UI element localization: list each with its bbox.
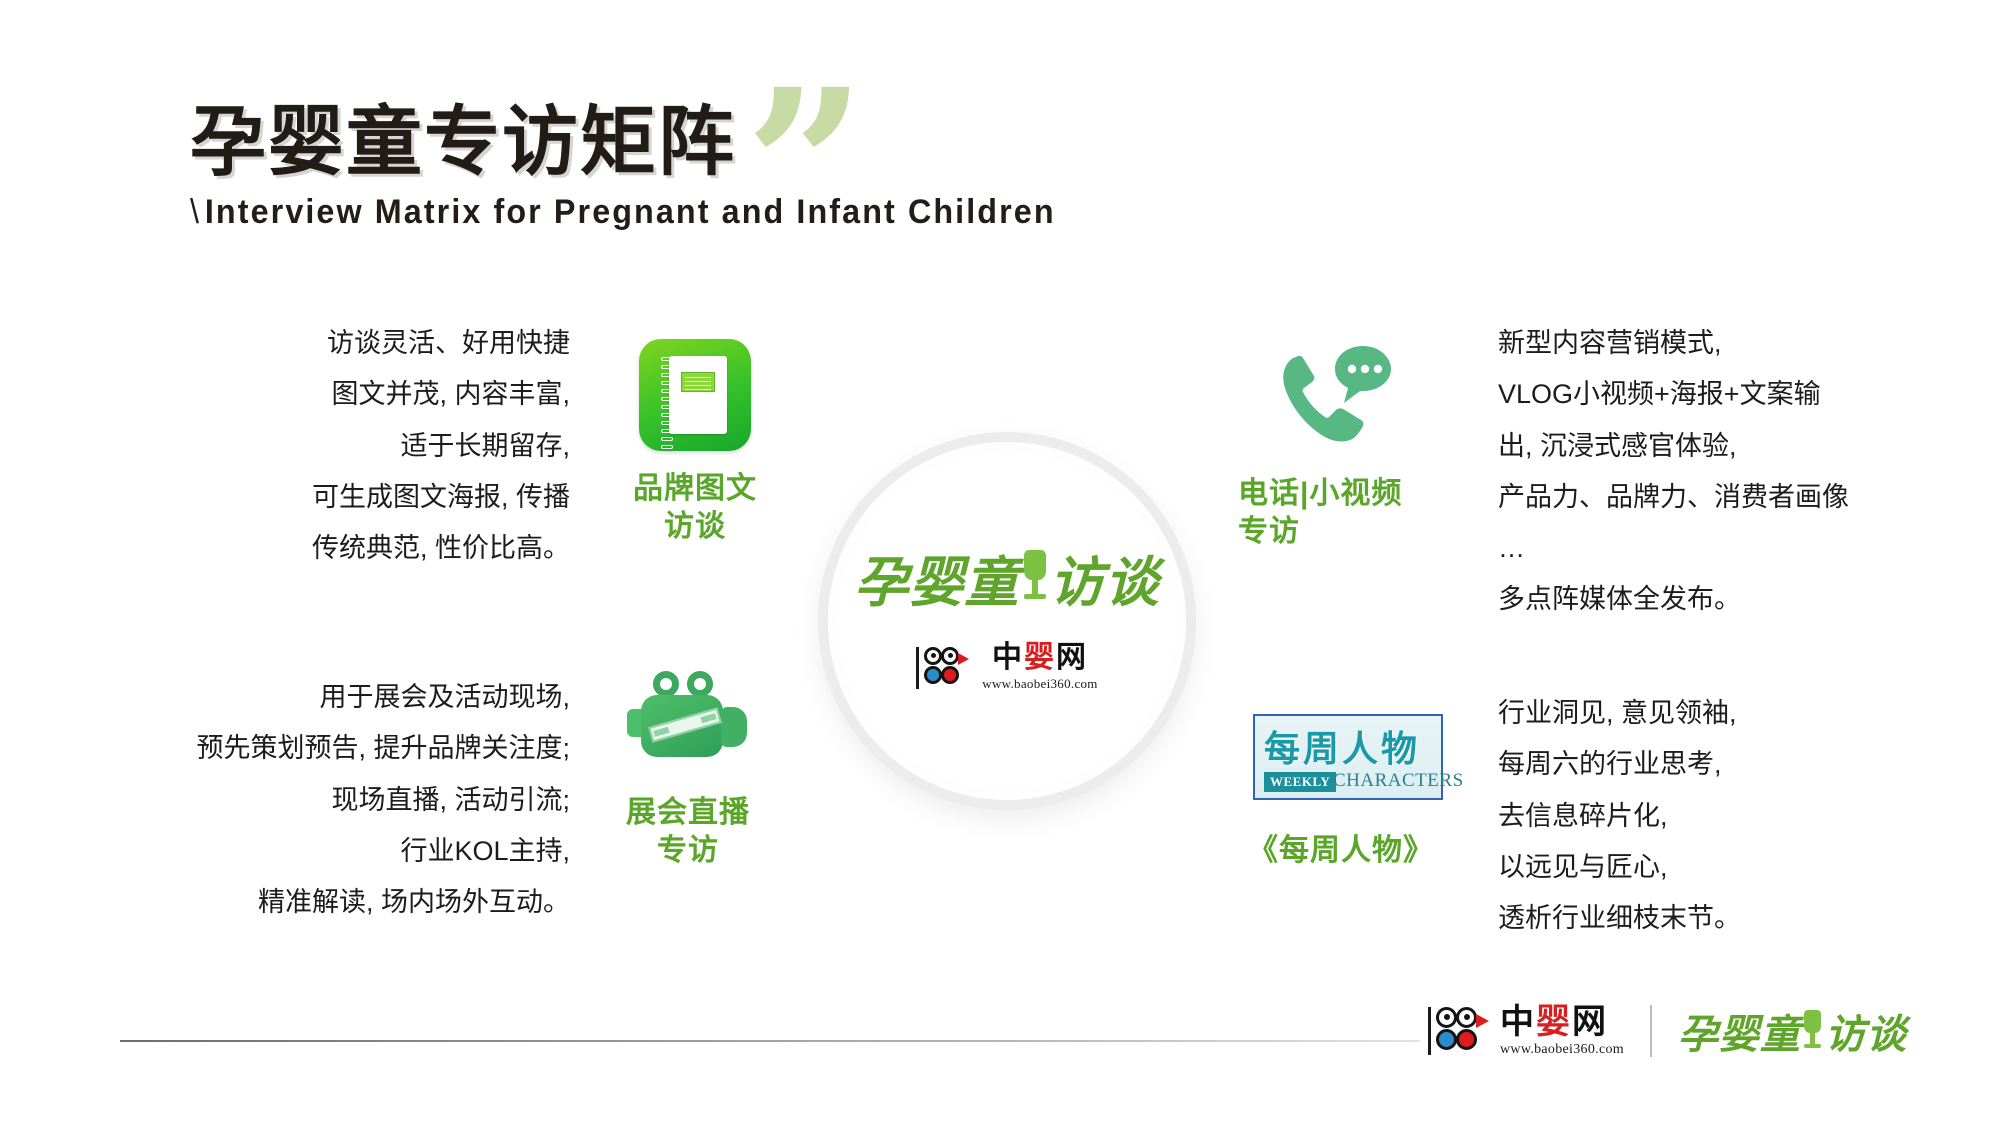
camera-reel-left — [653, 671, 679, 697]
node-label-line2: 访谈 — [585, 508, 805, 546]
footer-vertical-divider — [1650, 1005, 1652, 1057]
text-line: 新型内容营销模式, — [1498, 318, 1849, 369]
text-line: 多点阵媒体全发布。 — [1498, 574, 1849, 625]
page-title: 孕婴童专访矩阵 — [190, 105, 1101, 181]
node-label-line1: 电话|小视频 — [1238, 475, 1448, 513]
camera-reel-right — [687, 671, 713, 697]
phone-chat-icon-wrap — [1228, 335, 1448, 465]
node-label: 展会直播 专访 — [578, 794, 798, 871]
node-expo-live-interview[interactable]: 展会直播 专访 — [578, 654, 798, 871]
text-line: 用于展会及活动现场, — [196, 672, 570, 723]
node-label-line2: 专访 — [578, 832, 798, 870]
site-logo: 中婴网 www.baobei360.com — [916, 643, 1097, 692]
bird-mascot-icon — [1428, 1007, 1490, 1055]
video-camera-icon — [625, 667, 751, 771]
text-line: 以远见与匠心, — [1498, 842, 1741, 893]
camera-lens — [721, 707, 747, 747]
footer-brand-wordmark: 孕婴童 访谈 — [1678, 1002, 1907, 1060]
bird-mascot-icon — [916, 647, 972, 689]
text-line: 透析行业细枝末节。 — [1498, 893, 1741, 944]
notebook-icon-wrap — [585, 330, 805, 460]
notebook-icon — [639, 339, 751, 451]
node-label-line1: 展会直播 — [578, 794, 798, 832]
badge-weekly-tag: WEEKLY — [1264, 772, 1336, 792]
text-line: 图文并茂, 内容丰富, — [312, 369, 570, 420]
subtitle-text: Interview Matrix for Pregnant and Infant… — [205, 193, 1056, 231]
footer-brand-part1: 孕婴童 — [1678, 1002, 1801, 1060]
weekly-characters-badge-icon: 每周人物 WEEKLY CHARACTERS — [1253, 714, 1443, 800]
text-line: 每周六的行业思考, — [1498, 739, 1741, 790]
text-line: 产品力、品牌力、消费者画像 — [1498, 472, 1849, 523]
text-line: 可生成图文海报, 传播 — [312, 472, 570, 523]
text-line: 去信息碎片化, — [1498, 791, 1741, 842]
brand-wordmark-part2: 访谈 — [1050, 538, 1160, 617]
weekly-characters-badge-icon-wrap: 每周人物 WEEKLY CHARACTERS — [1238, 692, 1458, 822]
mic-icon — [1803, 1010, 1823, 1052]
badge-cn-title: 每周人物 — [1264, 720, 1420, 772]
text-line: 现场直播, 活动引流; — [196, 775, 570, 826]
node-brand-graphic-interview[interactable]: 品牌图文 访谈 — [585, 330, 805, 547]
text-line: 预先策划预告, 提升品牌关注度; — [196, 723, 570, 774]
description-bottom-right: 行业洞见, 意见领袖, 每周六的行业思考, 去信息碎片化, 以远见与匠心, 透析… — [1498, 688, 1741, 944]
footer-divider-rule — [120, 1040, 1420, 1042]
description-top-right: 新型内容营销模式, VLOG小视频+海报+文案输 出, 沉浸式感官体验, 产品力… — [1498, 318, 1849, 626]
node-label-line2: 专访 — [1238, 513, 1448, 551]
footer: 中婴网 www.baobei360.com 孕婴童 访谈 — [1428, 1002, 1907, 1060]
quote-mark-icon: ” — [745, 62, 866, 272]
brand-wordmark-part1: 孕婴童 — [855, 538, 1020, 617]
node-label: 《每周人物》 — [1238, 832, 1458, 870]
node-label-line1: 《每周人物》 — [1248, 832, 1458, 870]
description-bottom-left: 用于展会及活动现场, 预先策划预告, 提升品牌关注度; 现场直播, 活动引流; … — [196, 672, 570, 928]
phone-chat-icon — [1277, 344, 1399, 456]
site-cn: 中婴网 — [982, 643, 1097, 673]
node-label: 品牌图文 访谈 — [585, 470, 805, 547]
text-line: 行业KOL主持, — [196, 826, 570, 877]
notebook-page — [669, 356, 727, 434]
slide-canvas: 孕婴童专访矩阵 \Interview Matrix for Pregnant a… — [0, 0, 2000, 1124]
node-label-line1: 品牌图文 — [585, 470, 805, 508]
mic-icon — [1022, 550, 1048, 606]
subtitle-slash: \ — [190, 193, 201, 231]
node-label: 电话|小视频 专访 — [1228, 475, 1448, 552]
text-line: 出, 沉浸式感官体验, — [1498, 421, 1849, 472]
notebook-label-patch — [681, 372, 715, 392]
text-line: 传统典范, 性价比高。 — [312, 523, 570, 574]
text-line: 适于长期留存, — [312, 421, 570, 472]
badge-en-title: CHARACTERS — [1333, 770, 1464, 792]
footer-site-cn: 中婴网 — [1500, 1005, 1624, 1039]
node-weekly-characters[interactable]: 每周人物 WEEKLY CHARACTERS 《每周人物》 — [1238, 692, 1458, 870]
center-ring: 孕婴童 访谈 — [818, 432, 1196, 810]
node-phone-short-video-interview[interactable]: 电话|小视频 专访 — [1228, 335, 1448, 552]
brand-wordmark: 孕婴童 访谈 — [855, 538, 1160, 617]
footer-site-url: www.baobei360.com — [1500, 1042, 1624, 1058]
site-wordmark: 中婴网 www.baobei360.com — [982, 643, 1097, 692]
text-line: 精准解读, 场内场外互动。 — [196, 877, 570, 928]
text-line: 行业洞见, 意见领袖, — [1498, 688, 1741, 739]
description-top-left: 访谈灵活、好用快捷 图文并茂, 内容丰富, 适于长期留存, 可生成图文海报, 传… — [312, 318, 570, 574]
text-line: … — [1498, 523, 1849, 574]
video-camera-icon-wrap — [578, 654, 798, 784]
footer-site-logo: 中婴网 www.baobei360.com — [1428, 1005, 1624, 1058]
page-subtitle: \Interview Matrix for Pregnant and Infan… — [190, 193, 1056, 232]
footer-site-wordmark: 中婴网 www.baobei360.com — [1500, 1005, 1624, 1058]
footer-brand-part2: 访谈 — [1825, 1002, 1907, 1060]
title-block: 孕婴童专访矩阵 \Interview Matrix for Pregnant a… — [190, 105, 1101, 232]
text-line: VLOG小视频+海报+文案输 — [1498, 369, 1849, 420]
site-url: www.baobei360.com — [982, 676, 1097, 692]
text-line: 访谈灵活、好用快捷 — [312, 318, 570, 369]
center-logo-stack: 孕婴童 访谈 — [828, 538, 1186, 694]
